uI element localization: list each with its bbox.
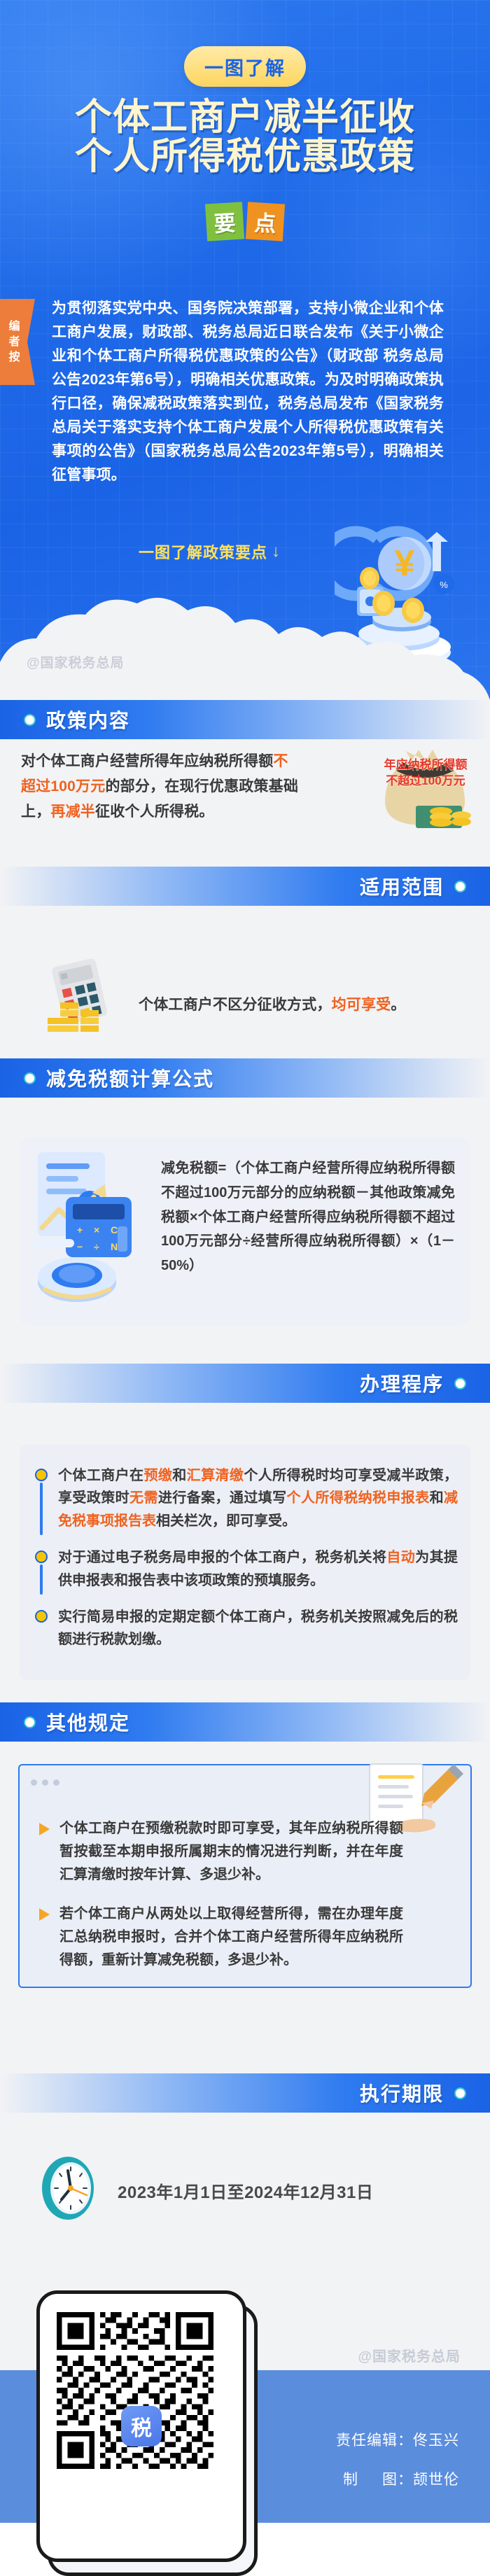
card-decor-dots [31, 1779, 59, 1786]
bullet-dot-icon [454, 881, 466, 892]
editor-credit: 责任编辑：佟玉兴 [336, 2429, 459, 2450]
cloud-divider [0, 595, 490, 700]
page-title-line-2: 个人所得税优惠政策 [0, 137, 490, 176]
page-title: 个体工商户减半征收 个人所得税优惠政策 [0, 98, 490, 176]
list-item: 对于通过电子税务局申报的个体工商户，税务机关将自动为其提供申报表和报告表中该项政… [35, 1546, 458, 1592]
scope-text-part-b: 。 [391, 997, 405, 1013]
decor-dot [53, 1779, 59, 1786]
t: 对于通过电子税务局申报的个体工商户，税务机关将 [58, 1550, 386, 1565]
h: 预缴 [143, 1468, 172, 1483]
scope-text-highlight: 均可享受 [332, 997, 391, 1013]
keypoint-tile-dian: 点 [246, 202, 285, 241]
editor-name: 佟玉兴 [413, 2432, 459, 2449]
regulation-item-1-text: 个体工商户在预缴税款时即可享受，其年应纳税所得额暂按截至本期申报所属期末的情况进… [59, 1817, 403, 1887]
other-regulations-list: 个体工商户在预缴税款时即可享受，其年应纳税所得额暂按截至本期申报所属期末的情况进… [39, 1817, 403, 1987]
designer-label-b: 图： [382, 2472, 413, 2488]
svg-text:¥: ¥ [395, 543, 415, 584]
editor-note-tab-char-1: 编 [8, 320, 20, 334]
section-title-scope: 适用范围 [360, 872, 444, 900]
scope-text-part-a: 个体工商户不区分征收方式， [139, 997, 332, 1013]
section-header-policy-content: 政策内容 [0, 700, 490, 739]
procedure-item-2-text: 对于通过电子税务局申报的个体工商户，税务机关将自动为其提供申报表和报告表中该项政… [58, 1546, 458, 1592]
procedure-list: 个体工商户在预缴和汇算清缴个人所得税时均可享受减半政策，享受政策时无需进行备案，… [35, 1464, 458, 1665]
editor-note-tab-char-2: 者 [8, 335, 20, 349]
section-title-policy-content: 政策内容 [46, 706, 130, 734]
calculator-coins-illustration [42, 958, 119, 1042]
callout-line-2: 不超过100万元 [377, 773, 475, 790]
footer-watermark: @国家税务总局 [358, 2345, 461, 2365]
money-bag-callout: 年应纳税所得额 不超过100万元 [377, 757, 475, 790]
calculator-chart-illustration: +×C −÷N [29, 1145, 155, 1313]
t: 和 [172, 1468, 186, 1483]
bullet-circle-icon [35, 1469, 48, 1481]
bullet-dot-icon [24, 1072, 36, 1084]
section-header-procedure: 办理程序 [0, 1364, 490, 1403]
designer-credit: 制图：颉世伦 [336, 2468, 459, 2489]
section-header-other-regulations: 其他规定 [0, 1702, 490, 1742]
t: 和 [430, 1490, 444, 1506]
section-header-period: 执行期限 [0, 2073, 490, 2113]
section-title-procedure: 办理程序 [360, 1369, 444, 1397]
cta-label: 一图了解政策要点 [139, 540, 267, 563]
list-item: 个体工商户在预缴税款时即可享受，其年应纳税所得额暂按截至本期申报所属期末的情况进… [39, 1817, 403, 1887]
bullet-connector-line [40, 1564, 43, 1595]
regulation-item-2-text: 若个体工商户从两处以上取得经营所得，需在办理年度汇总纳税申报时，合并个体工商户经… [59, 1903, 403, 1973]
triangle-bullet-icon [39, 1823, 50, 1835]
svg-text:C: C [111, 1224, 118, 1235]
section-title-period: 执行期限 [360, 2079, 444, 2107]
period-value: 2023年1月1日至2024年12月31日 [118, 2178, 373, 2203]
scope-text: 个体工商户不区分征收方式，均可享受。 [139, 993, 468, 1018]
tax-app-logo-icon: 税 [121, 2406, 162, 2446]
infographic-page: 一图了解 个体工商户减半征收 个人所得税优惠政策 要 点 编 者 按 为贯彻落实… [0, 0, 490, 2523]
editor-note-tab-char-3: 按 [8, 351, 20, 365]
svg-text:−: − [77, 1241, 83, 1252]
cta-scroll-hint: 一图了解政策要点 ↓ [139, 540, 281, 563]
section-header-formula: 减免税额计算公式 [0, 1058, 490, 1098]
bullet-connector-line [40, 1483, 43, 1535]
decor-dot [31, 1779, 37, 1786]
clock-icon [41, 2155, 95, 2222]
svg-text:×: × [94, 1224, 99, 1235]
designer-label-a: 制 [343, 2472, 358, 2488]
section-header-scope: 适用范围 [0, 867, 490, 906]
intro-pill-label: 一图了解 [204, 53, 286, 80]
procedure-item-3-text: 实行简易申报的定期定额个体工商户，税务机关按照减免后的税额进行税款划缴。 [58, 1606, 458, 1651]
intro-pill-badge: 一图了解 [184, 46, 306, 87]
bullet-marker [35, 1606, 49, 1651]
procedure-item-1-text: 个体工商户在预缴和汇算清缴个人所得税时均可享受减半政策，享受政策时无需进行备案，… [58, 1464, 458, 1532]
section-title-other-regulations: 其他规定 [46, 1708, 130, 1736]
list-item: 若个体工商户从两处以上取得经营所得，需在办理年度汇总纳税申报时，合并个体工商户经… [39, 1903, 403, 1973]
bullet-circle-icon [35, 1610, 48, 1623]
hero-watermark: @国家税务总局 [27, 652, 125, 671]
editor-note-body: 为贯彻落实党中央、国务院决策部署，支持小微企业和个体工商户发展，财政部、税务总局… [52, 297, 444, 487]
t: 相关栏次，即可享受。 [156, 1513, 296, 1529]
h: 无需 [129, 1490, 158, 1506]
bullet-dot-icon [24, 714, 36, 726]
down-arrow-icon: ↓ [272, 542, 281, 561]
designer-name: 颉世伦 [413, 2472, 459, 2488]
callout-line-1: 年应纳税所得额 [377, 757, 475, 773]
h: 汇算清缴 [187, 1468, 244, 1483]
bullet-circle-icon [35, 1550, 48, 1563]
bullet-marker [35, 1464, 49, 1532]
page-title-line-1: 个体工商户减半征收 [0, 98, 490, 137]
svg-text:+: + [77, 1224, 83, 1235]
keypoint-badge: 要 点 [206, 203, 284, 240]
t: 进行备案，通过填写 [158, 1490, 287, 1506]
svg-text:N: N [111, 1241, 118, 1252]
bullet-dot-icon [24, 1716, 36, 1728]
formula-text: 减免税额=（个体工商户经营所得应纳税所得额不超过100万元部分的应纳税额－其他政… [161, 1156, 455, 1278]
t: 个体工商户在 [58, 1468, 143, 1483]
decor-dot [42, 1779, 48, 1786]
h: 自动 [386, 1550, 415, 1565]
credits-block: 责任编辑：佟玉兴 制图：颉世伦 [336, 2429, 459, 2507]
bullet-dot-icon [454, 2087, 466, 2099]
svg-text:%: % [440, 580, 448, 590]
keypoint-tile-yao: 要 [205, 202, 244, 241]
list-item: 个体工商户在预缴和汇算清缴个人所得税时均可享受减半政策，享受政策时无需进行备案，… [35, 1464, 458, 1532]
policy-text-part-c: 征收个人所得税。 [95, 804, 214, 820]
hero-banner: 一图了解 个体工商户减半征收 个人所得税优惠政策 要 点 编 者 按 为贯彻落实… [0, 0, 490, 700]
policy-text-highlight-2: 再减半 [50, 804, 95, 820]
bullet-dot-icon [454, 1378, 466, 1389]
list-item: 实行简易申报的定期定额个体工商户，税务机关按照减免后的税额进行税款划缴。 [35, 1606, 458, 1651]
editor-label: 责任编辑： [336, 2432, 413, 2449]
triangle-bullet-icon [39, 1908, 50, 1921]
policy-content-text: 对个体工商户经营所得年应纳税所得额不超过100万元的部分，在现行优惠政策基础上，… [21, 749, 301, 825]
bullet-marker [35, 1546, 49, 1592]
qr-code-card[interactable]: 税 [36, 2290, 246, 2562]
h: 个人所得税纳税申报表 [287, 1490, 430, 1506]
svg-text:÷: ÷ [94, 1241, 99, 1252]
policy-text-part-a: 对个体工商户经营所得年应纳税所得额 [21, 753, 273, 769]
section-title-formula: 减免税额计算公式 [46, 1064, 214, 1092]
